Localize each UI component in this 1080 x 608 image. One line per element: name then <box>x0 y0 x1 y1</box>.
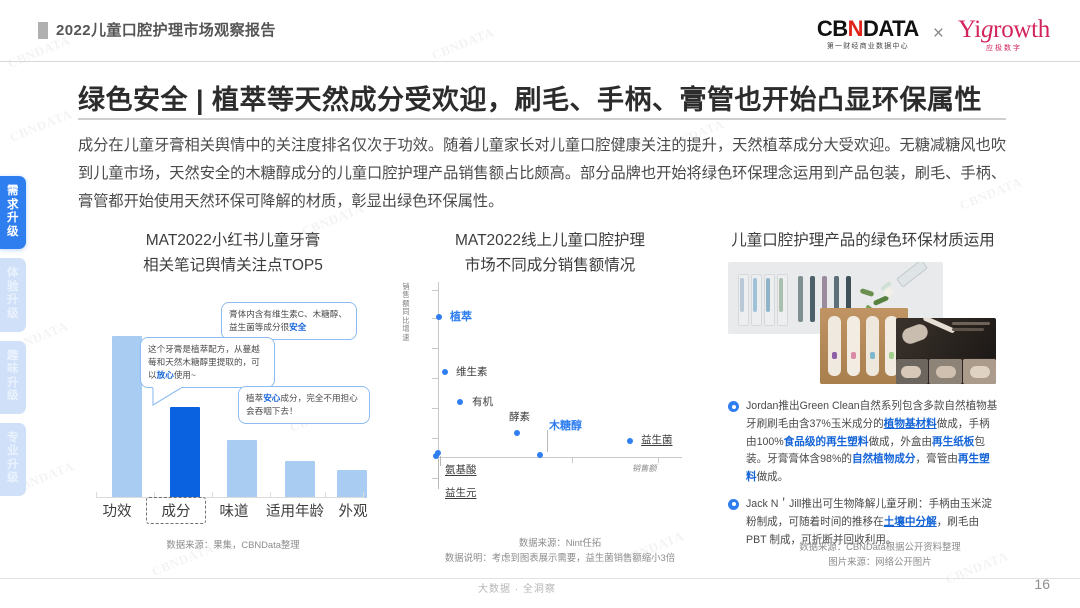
sidebar-item-label: 级 <box>7 308 19 322</box>
toothbrush-bristle-icon <box>753 278 757 312</box>
cbndata-wordmark-n: N <box>848 16 863 41</box>
toothbrush-bristle-icon <box>779 278 783 312</box>
toothbrush-bristle-icon <box>740 278 744 312</box>
bullet-jordan-seg: 做成。 <box>757 471 789 483</box>
middle-chart-source-line1: 数据来源：Nint任拓 <box>400 536 720 551</box>
bar-label-weidao: 味道 <box>208 500 260 521</box>
sidebar-item-label: 升 <box>7 212 19 226</box>
sidebar-item-label: 趣 <box>7 350 19 364</box>
bullet-dot-icon <box>728 401 739 412</box>
middle-chart-title-line2: 市场不同成分销售额情况 <box>410 253 690 278</box>
footer-divider <box>0 578 1080 579</box>
bar-chart-tick <box>270 492 271 498</box>
bullet-jordan-seg-hl: 植物基材料 <box>884 418 937 430</box>
yigrowth-wordmark-g: g <box>981 16 993 43</box>
callout-formula: 这个牙膏是植萃配方，从蔓越莓和天然木糖醇里提取的，可以放心使用~ <box>140 337 275 388</box>
bristle-accent-icon <box>889 352 894 359</box>
callout-relief-text-1: 植萃 <box>246 393 263 403</box>
bar-chart-x-labels: 功效 成分 味道 适用年龄 外观 <box>88 500 373 526</box>
bar-chart-tick <box>96 492 97 498</box>
middle-chart-source-line2: 数据说明：考虑到图表展示需要，益生菌销售额缩小3倍 <box>400 551 720 566</box>
scatter-x-axis-label: 销售额 <box>632 462 657 474</box>
scatter-x-tick <box>572 457 573 463</box>
bristle-accent-icon <box>851 352 856 359</box>
right-panel-source-line2: 图片来源：网络公开图片 <box>740 555 1020 570</box>
bar-gongxiao[interactable] <box>112 336 142 498</box>
logo-group: CBNDATA 第一财经商业数据中心 × Yigrowth 应极数字 <box>817 12 1050 56</box>
bullet-jordan-seg-hl: 自然植物成分 <box>852 453 916 465</box>
right-panel-source: 数据来源：CBNData根据公开资料整理 图片来源：网络公开图片 <box>740 540 1020 569</box>
scatter-leader-anjisuan <box>440 456 441 466</box>
collage-caption-icon <box>952 328 984 331</box>
scatter-x-axis <box>438 457 682 458</box>
callout-formula-tail-icon <box>151 387 187 409</box>
sidebar-item-label: 验 <box>7 281 19 295</box>
bamboo-toothbrush-icon <box>828 316 841 376</box>
bristle-accent-icon <box>870 352 875 359</box>
sidebar-item-fun-upgrade[interactable]: 趣 味 升 级 <box>0 341 26 414</box>
sidebar-item-label: 级 <box>7 390 19 404</box>
scatter-y-tick <box>432 348 438 349</box>
toothbrush-icon <box>810 276 815 322</box>
bullet-jordan-seg-hl: 食品级的再生塑料 <box>784 436 869 448</box>
bullet-jordan-text: Jordan推出Green Clean自然系列包含多款自然植物基牙刷刷毛由含37… <box>746 398 1000 487</box>
bar-label-gongxiao: 功效 <box>88 500 146 521</box>
callout-safe: 膏体内含有维生素C、木糖醇、益生菌等成分很安全 <box>221 302 357 340</box>
page-number: 16 <box>1034 576 1050 592</box>
middle-chart-source: 数据来源：Nint任拓 数据说明：考虑到图表展示需要，益生菌销售额缩小3倍 <box>400 536 720 565</box>
sidebar-item-professional-upgrade[interactable]: 专 业 升 级 <box>0 423 26 496</box>
scatter-chart: 植萃 维生素 有机 酵素 木糖醇 益生菌 氨基酸 益生元 销售额 <box>414 282 682 487</box>
bamboo-toothbrush-icon <box>847 316 860 376</box>
scatter-label-weishengsu: 维生素 <box>456 364 488 379</box>
collage-hand-icon <box>901 366 921 378</box>
scatter-y-tick <box>432 290 438 291</box>
scatter-label-anjisuan: 氨基酸 <box>445 462 477 477</box>
bullet-jordan-seg: ，膏管由 <box>916 453 958 465</box>
callout-safe-text-1: 膏体内含有维生素C、木糖醇、益生菌等成分很 <box>229 309 347 332</box>
bar-chengfen[interactable] <box>170 407 200 498</box>
footer-tagline: 大数据 · 全洞察 <box>478 580 556 595</box>
scatter-y-tick <box>432 438 438 439</box>
scatter-label-jiaosu: 酵素 <box>509 409 530 424</box>
scatter-label-youji: 有机 <box>472 394 493 409</box>
collage-caption-icon <box>952 322 990 325</box>
toothbrush-bristle-icon <box>766 278 770 312</box>
left-chart-title-line2: 相关笔记舆情关注点TOP5 <box>88 253 378 278</box>
right-bullet-list: Jordan推出Green Clean自然系列包含多款自然植物基牙刷刷毛由含37… <box>728 398 1000 558</box>
sidebar-item-label: 业 <box>7 445 19 459</box>
yigrowth-wordmark-part1: Yi <box>958 16 981 43</box>
watermark: CBNDATA <box>7 106 74 146</box>
scatter-point-mutangchun[interactable] <box>537 452 543 458</box>
middle-chart-title: MAT2022线上儿童口腔护理 市场不同成分销售额情况 <box>410 228 690 278</box>
sidebar-item-label: 需 <box>7 185 19 199</box>
bar-chart-tick <box>212 492 213 498</box>
slide-root: CBNDATA CBNDATA CBNDATA CBNDATA CBNDATA … <box>0 0 1080 608</box>
scatter-point-weishengsu[interactable] <box>442 369 448 375</box>
scatter-y-tick <box>432 378 438 379</box>
sidebar-item-experience-upgrade[interactable]: 体 验 升 级 <box>0 258 26 331</box>
sidebar-item-label: 升 <box>7 377 19 391</box>
bullet-jackjill-seg-hl: 土壤中分解 <box>884 516 937 528</box>
page-title: 绿色安全 | 植萃等天然成分受欢迎，刷毛、手柄、膏管也开始凸显环保属性 <box>78 78 982 117</box>
bristle-accent-icon <box>832 352 837 359</box>
sidebar-item-label: 级 <box>7 226 19 240</box>
scatter-y-axis-label: 销 售 额 同 比 增 速 <box>400 283 412 342</box>
collage-hand-icon <box>936 366 956 378</box>
cbndata-wordmark-part1: CB <box>817 16 848 41</box>
scatter-point-jiaosu[interactable] <box>514 430 520 436</box>
herb-leaf-icon <box>860 288 875 297</box>
sidebar-item-label: 专 <box>7 432 19 446</box>
cbndata-wordmark-part2: DATA <box>863 16 919 41</box>
bar-label-waiguan: 外观 <box>331 500 375 521</box>
scatter-point-zhicui[interactable] <box>436 314 442 320</box>
bar-chart-tick <box>363 492 364 498</box>
callout-formula-text-2: 放心 <box>157 370 174 380</box>
sidebar-item-label: 味 <box>7 363 19 377</box>
sidebar-item-label: 体 <box>7 267 19 281</box>
photo-kraft-toothbrush-pack <box>820 308 908 384</box>
title-divider <box>78 118 1006 120</box>
cbndata-wordmark: CBNDATA <box>817 18 919 40</box>
sidebar-item-label: 升 <box>7 294 19 308</box>
bar-label-shiyongnianling: 适用年龄 <box>258 500 332 521</box>
bar-chart-tick <box>325 492 326 498</box>
bullet-jordan: Jordan推出Green Clean自然系列包含多款自然植物基牙刷刷毛由含37… <box>728 398 1000 487</box>
right-panel-title: 儿童口腔护理产品的绿色环保材质运用 <box>718 228 1008 253</box>
herb-flower-icon <box>884 288 893 297</box>
bullet-dot-icon <box>728 499 739 510</box>
header-bar: 2022儿童口腔护理市场观察报告 CBNDATA 第一财经商业数据中心 × Yi… <box>0 0 1080 62</box>
scatter-y-tick <box>432 408 438 409</box>
toothpaste-tube-icon <box>896 262 928 288</box>
sidebar-item-label: 升 <box>7 459 19 473</box>
callout-safe-text-2: 安全 <box>289 322 306 332</box>
scatter-x-tick <box>658 457 659 463</box>
middle-chart-title-line1: MAT2022线上儿童口腔护理 <box>410 228 690 253</box>
left-chart-source: 数据来源：果集，CBNData整理 <box>88 538 378 553</box>
callout-relief: 植萃安心成分，完全不用担心会吞咽下去！ <box>238 386 370 424</box>
cbndata-subtitle: 第一财经商业数据中心 <box>827 43 909 50</box>
yigrowth-wordmark: Yigrowth <box>958 17 1050 42</box>
scatter-y-axis-label-char: 速 <box>400 334 412 342</box>
scatter-point-youji[interactable] <box>457 399 463 405</box>
callout-relief-text-2: 安心 <box>263 393 280 403</box>
intro-paragraph: 成分在儿童牙膏相关舆情中的关注度排名仅次于功效。随着儿童家长对儿童口腔健康关注的… <box>78 132 1006 216</box>
scatter-label-mutangchun: 木糖醇 <box>549 417 582 433</box>
scatter-leader-mutangchun <box>547 430 548 452</box>
bar-label-chengfen[interactable]: 成分 <box>146 497 206 524</box>
product-photo-group <box>728 262 996 384</box>
scatter-label-yishengjun: 益生菌 <box>641 432 673 447</box>
left-chart-title-line1: MAT2022小红书儿童牙膏 <box>88 228 378 253</box>
logo-separator-icon: × <box>933 23 944 45</box>
toothbrush-icon <box>798 276 803 322</box>
bamboo-toothbrush-icon <box>866 316 879 376</box>
cbndata-logo: CBNDATA 第一财经商业数据中心 <box>817 18 919 50</box>
yigrowth-subtitle: 应极数字 <box>986 45 1022 52</box>
bullet-jordan-seg-hl: 再生纸板 <box>932 436 974 448</box>
scatter-leader-yishengyuan <box>438 458 439 489</box>
left-chart-title: MAT2022小红书儿童牙膏 相关笔记舆情关注点TOP5 <box>88 228 378 278</box>
sidebar-item-label: 级 <box>7 472 19 486</box>
scatter-point-yishengjun[interactable] <box>627 438 633 444</box>
bar-shiyongnianling[interactable] <box>285 461 315 498</box>
bar-chart-axis <box>96 497 364 498</box>
sidebar-item-demand-upgrade[interactable]: 需 求 升 级 <box>0 176 26 249</box>
yigrowth-logo: Yigrowth 应极数字 <box>958 17 1050 52</box>
scatter-label-zhicui: 植萃 <box>450 308 472 324</box>
sidebar-tabs: 需 求 升 级 体 验 升 级 趣 味 升 级 专 业 升 级 <box>0 176 26 505</box>
bar-weidao[interactable] <box>227 440 257 498</box>
brand-square-icon <box>38 22 48 39</box>
right-panel-source-line1: 数据来源：CBNData根据公开资料整理 <box>740 540 1020 555</box>
yigrowth-wordmark-part2: rowth <box>993 16 1050 43</box>
header-divider <box>0 61 1080 62</box>
bullet-jordan-seg: 做成，外盒由 <box>868 436 932 448</box>
callout-formula-text-3: 使用~ <box>174 370 196 380</box>
photo-biodegradation-collage <box>896 318 996 384</box>
collage-hand-icon <box>970 366 990 378</box>
sidebar-item-label: 求 <box>7 199 19 213</box>
scatter-label-yishengyuan: 益生元 <box>445 485 477 500</box>
report-title: 2022儿童口腔护理市场观察报告 <box>56 19 276 40</box>
